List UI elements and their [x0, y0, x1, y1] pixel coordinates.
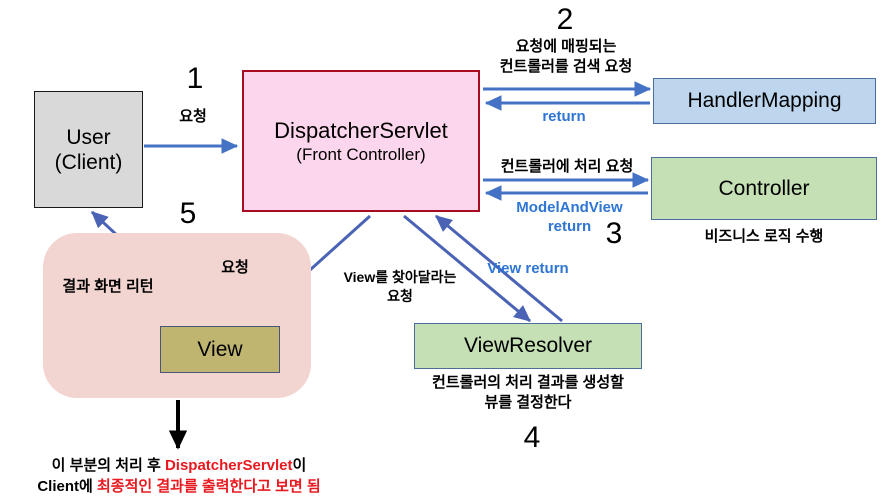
label-viewresolver-return: View return [428, 260, 628, 277]
step-number-1: 1 [178, 62, 212, 96]
label-dispatcher-to-view: 요청 [190, 256, 280, 277]
node-handler-mapping-label: HandlerMapping [687, 89, 841, 113]
node-dispatcher-line1: DispatcherServlet [274, 117, 448, 144]
label-dispatcher-to-controller: 컨트롤러에 처리 요청 [477, 155, 657, 176]
label-user-to-dispatcher: 요청 [153, 105, 233, 126]
footer-line1-highlight: DispatcherServlet [165, 457, 293, 474]
label-controller-return-line2: return [497, 217, 642, 236]
node-dispatcher-servlet[interactable]: DispatcherServlet (Front Controller) [242, 70, 480, 212]
footer-note: 이 부분의 처리 후 DispatcherServlet이 Client에 최종… [14, 455, 344, 497]
node-view-resolver-label: ViewResolver [464, 334, 592, 358]
node-view-resolver[interactable]: ViewResolver [414, 323, 642, 369]
label-dispatcher-to-handlermapping-line2: 컨트롤러를 검색 요청 [480, 57, 652, 77]
node-dispatcher-line2: (Front Controller) [296, 144, 425, 165]
label-view-to-user: 결과 화면 리턴 [38, 275, 178, 296]
step-number-5: 5 [171, 197, 205, 231]
label-handlermapping-return: return [505, 108, 623, 125]
caption-view-resolver-line1: 컨트롤러의 처리 결과를 생성할 [403, 373, 653, 393]
footer-note-line2: Client에 최종적인 결과를 출력한다고 보면 됨 [14, 476, 344, 497]
node-handler-mapping[interactable]: HandlerMapping [653, 78, 876, 124]
label-dispatcher-to-viewresolver-line2: 요청 [305, 287, 495, 306]
step-number-4: 4 [515, 421, 549, 455]
caption-controller: 비즈니스 로직 수행 [651, 227, 877, 247]
node-user-line2: (Client) [55, 150, 123, 175]
node-user[interactable]: User (Client) [34, 91, 143, 208]
footer-line1-text-b: 이 [293, 457, 307, 474]
node-user-line1: User [66, 125, 110, 150]
node-view-label: View [197, 338, 242, 362]
footer-line2-highlight: 최종적인 결과를 출력한다고 보면 됨 [97, 478, 321, 495]
node-view[interactable]: View [160, 326, 280, 373]
label-dispatcher-to-handlermapping-line1: 요청에 매핑되는 [480, 37, 652, 57]
caption-view-resolver-line2: 뷰를 결정한다 [403, 393, 653, 413]
footer-line1-text-a: 이 부분의 처리 후 [52, 457, 165, 474]
node-controller-label: Controller [718, 177, 809, 201]
step-number-2: 2 [548, 3, 582, 37]
label-controller-return-line1: ModelAndView [497, 198, 642, 217]
diagram-canvas: User (Client) DispatcherServlet (Front C… [0, 0, 888, 503]
footer-note-line1: 이 부분의 처리 후 DispatcherServlet이 [14, 455, 344, 476]
footer-line2-text-a: Client에 [37, 478, 97, 495]
node-controller[interactable]: Controller [651, 157, 877, 220]
